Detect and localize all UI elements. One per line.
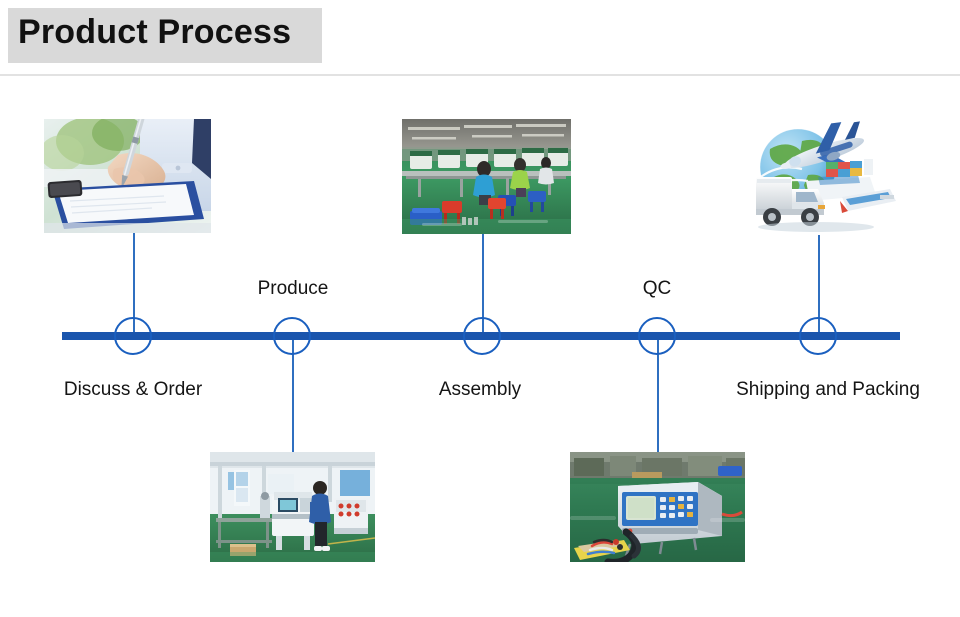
stage-label-discuss-order: Discuss & Order: [64, 379, 202, 401]
stage-label-shipping-packing: Shipping and Packing: [736, 379, 920, 401]
slide-canvas: Product Process Discuss & Order Produce …: [0, 0, 960, 617]
timeline-node-discuss-order[interactable]: [114, 317, 152, 355]
timeline-node-assembly[interactable]: [463, 317, 501, 355]
timeline-node-produce[interactable]: [273, 317, 311, 355]
connector-qc: [657, 340, 659, 452]
header-divider: [0, 74, 960, 76]
photo-produce: [210, 452, 375, 562]
connector-produce: [292, 340, 294, 452]
photo-shipping-packing: [740, 119, 900, 235]
photo-discuss-order: [44, 119, 211, 233]
stage-label-qc: QC: [643, 278, 672, 300]
page-title: Product Process: [18, 13, 291, 52]
photo-qc: [570, 452, 745, 562]
stage-label-assembly: Assembly: [439, 379, 521, 401]
stage-label-produce: Produce: [258, 278, 329, 300]
photo-assembly: [402, 119, 571, 234]
timeline-node-qc[interactable]: [638, 317, 676, 355]
timeline-node-shipping-packing[interactable]: [799, 317, 837, 355]
